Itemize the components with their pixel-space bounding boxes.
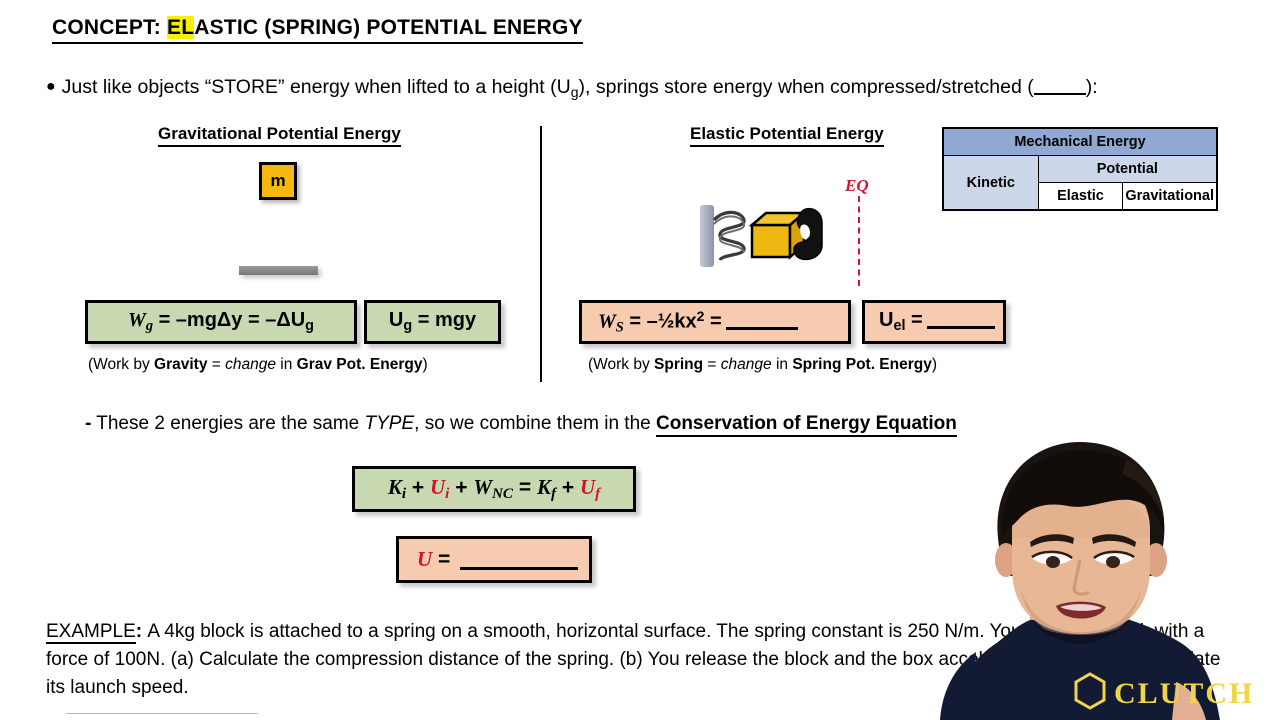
slide-title: CONCEPT: ELASTIC (SPRING) POTENTIAL ENER…: [52, 16, 583, 44]
uel-subscript: el: [893, 319, 905, 335]
ug-subscript: g: [403, 319, 412, 335]
table-row: Mechanical Energy: [943, 128, 1217, 156]
ug-rest: = mgy: [412, 309, 476, 331]
ws-rest: = –½kx: [624, 310, 697, 332]
wg-symbol: W: [128, 309, 146, 331]
bullet-text-1: Just like objects “STORE” energy when li…: [62, 76, 571, 98]
title-rest: ASTIC (SPRING) POTENTIAL ENERGY: [194, 16, 583, 39]
uf-symbol: U: [580, 475, 595, 499]
u-answer-blank: [460, 567, 578, 570]
ug-symbol: U: [389, 309, 403, 331]
plus-2: +: [449, 476, 473, 499]
ws-answer-blank: [726, 327, 798, 330]
grav-cap-bold1: Gravity: [154, 356, 207, 373]
wg-subscript: g: [146, 318, 153, 334]
spring-cap-end: ): [932, 356, 937, 373]
ws-subscript: S: [616, 319, 624, 335]
bottom-divider: [66, 713, 258, 714]
uel-answer-blank: [927, 326, 995, 329]
webcam-overlay: CLUTCH: [880, 420, 1280, 720]
wg-rest: = –mgΔy = –ΔU: [153, 309, 305, 331]
kf-symbol: K: [537, 475, 551, 499]
spring-cap-bold2: Spring Pot. Energy: [792, 356, 932, 373]
spring-cap-mid: =: [703, 356, 721, 373]
wnc-symbol: W: [473, 475, 492, 499]
equilibrium-dashed-line: [858, 196, 860, 286]
mechanical-energy-table: Mechanical Energy Kinetic Potential Elas…: [942, 127, 1218, 211]
plus-3: +: [556, 476, 580, 499]
total-potential-box: U =: [396, 536, 592, 583]
spring-caption: (Work by Spring = change in Spring Pot. …: [588, 356, 937, 374]
bullet-dot-icon: ●: [46, 78, 56, 95]
u-equals: =: [432, 548, 450, 571]
grav-cap-mid2: in: [276, 356, 297, 373]
table-cell-mechanical-energy: Mechanical Energy: [943, 128, 1217, 156]
grav-cap-pre: (Work by: [88, 356, 154, 373]
grav-cap-italic: change: [225, 356, 276, 373]
u-symbol: U: [417, 547, 432, 571]
work-spring-formula-box: WS = –½kx2 =: [579, 300, 851, 344]
example-colon: :: [136, 621, 148, 642]
example-label: EXAMPLE: [46, 621, 136, 644]
spring-cap-bold1: Spring: [654, 356, 703, 373]
fill-blank-inline: [1034, 93, 1086, 95]
ki-symbol: K: [388, 475, 402, 499]
table-cell-potential: Potential: [1038, 156, 1217, 183]
grav-cap-bold2: Grav Pot. Energy: [297, 356, 423, 373]
title-prefix: CONCEPT:: [52, 16, 167, 39]
spring-cap-italic: change: [721, 356, 772, 373]
column-divider: [540, 126, 542, 382]
intro-bullet: ●Just like objects “STORE” energy when l…: [46, 76, 1098, 100]
gravitational-heading: Gravitational Potential Energy: [158, 124, 401, 147]
spring-cap-mid2: in: [772, 356, 793, 373]
bullet-text-2: ), springs store energy when compressed/…: [579, 76, 1034, 98]
grav-cap-mid: =: [207, 356, 225, 373]
ws-equals: =: [704, 310, 721, 332]
ws-symbol: W: [598, 310, 616, 332]
title-highlight: EL: [167, 16, 194, 39]
equilibrium-label: EQ: [845, 176, 869, 196]
ground-bar-icon: [239, 266, 318, 275]
mass-block-label: m: [270, 171, 285, 191]
ui-symbol: U: [430, 475, 445, 499]
spring-cap-pre: (Work by: [588, 356, 654, 373]
combine-text-2: , so we combine them in the: [414, 413, 656, 434]
uel-equals: =: [905, 309, 922, 331]
table-row: Kinetic Potential: [943, 156, 1217, 183]
wnc-subscript: NC: [492, 486, 513, 502]
uel-formula-box: Uel =: [862, 300, 1006, 344]
hand-icon: [782, 205, 830, 265]
ug-formula-box: Ug = mgy: [364, 300, 501, 344]
conservation-of-energy-box: Ki + Ui + WNC = Kf + Uf: [352, 466, 636, 512]
bullet-subscript-g: g: [571, 84, 579, 100]
mass-block-diagram: m: [259, 162, 297, 200]
work-gravity-formula-box: Wg = –mgΔy = –ΔUg: [85, 300, 357, 344]
combine-type-italic: TYPE: [365, 413, 415, 434]
uel-symbol: U: [879, 309, 893, 331]
wg-rest-subscript: g: [305, 318, 314, 334]
table-cell-elastic: Elastic: [1038, 183, 1123, 211]
uf-subscript: f: [595, 486, 600, 502]
combine-text-1: These 2 energies are the same: [91, 413, 364, 434]
plus-1: +: [406, 476, 430, 499]
combine-sentence: - These 2 energies are the same TYPE, so…: [85, 413, 957, 435]
grav-cap-end: ): [422, 356, 427, 373]
clutch-logo-text: CLUTCH: [1114, 677, 1254, 710]
table-cell-gravitational: Gravitational: [1123, 183, 1217, 211]
equals-sign: =: [513, 476, 537, 499]
gravity-caption: (Work by Gravity = change in Grav Pot. E…: [88, 356, 428, 374]
elastic-heading: Elastic Potential Energy: [690, 124, 884, 147]
table-cell-kinetic: Kinetic: [943, 156, 1038, 211]
bullet-text-3: ):: [1086, 76, 1098, 98]
